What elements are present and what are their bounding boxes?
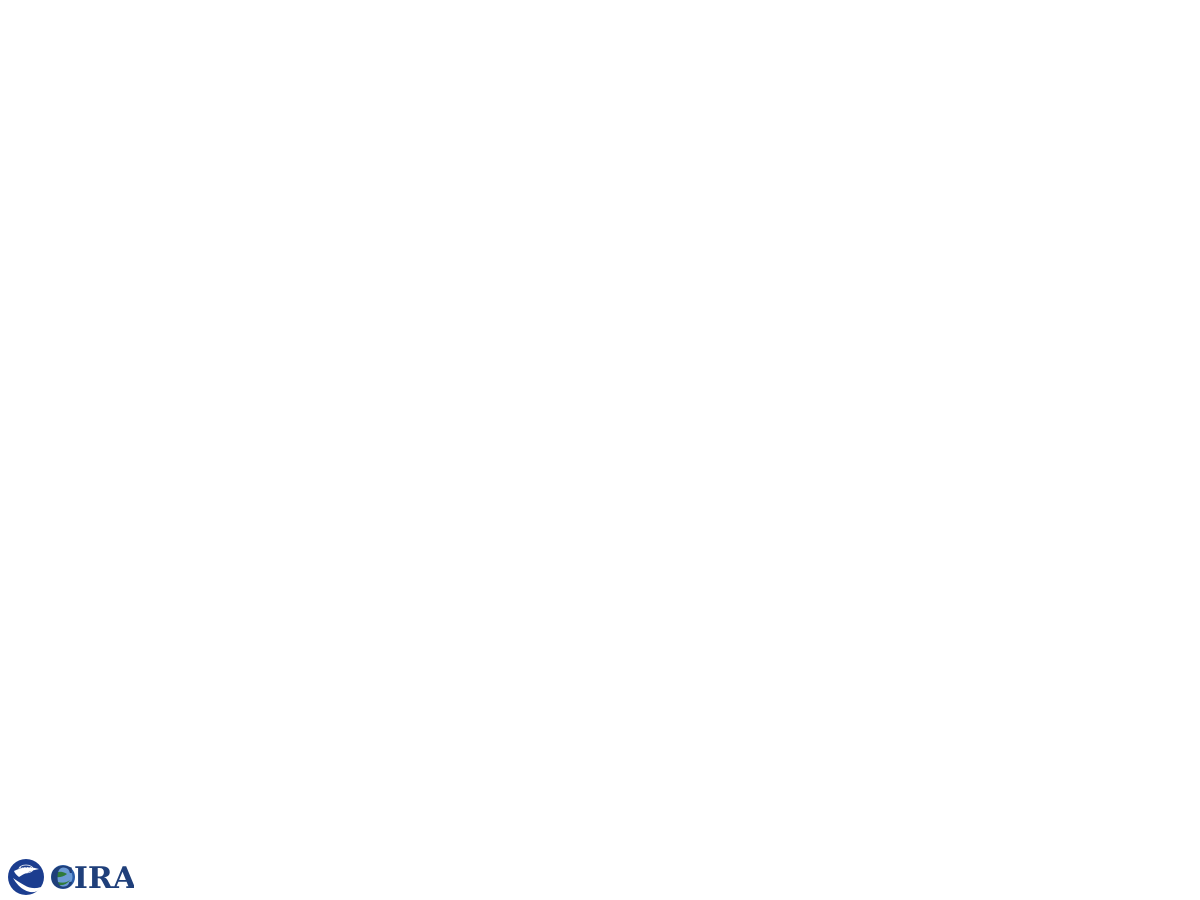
svg-text:NOAA: NOAA — [20, 866, 32, 871]
svg-text:CIRA: CIRA — [50, 861, 134, 896]
footer-logos: NOAA CIRA — [6, 856, 134, 898]
cira-logo: CIRA — [50, 861, 134, 896]
noaa-logo: NOAA — [8, 859, 44, 895]
